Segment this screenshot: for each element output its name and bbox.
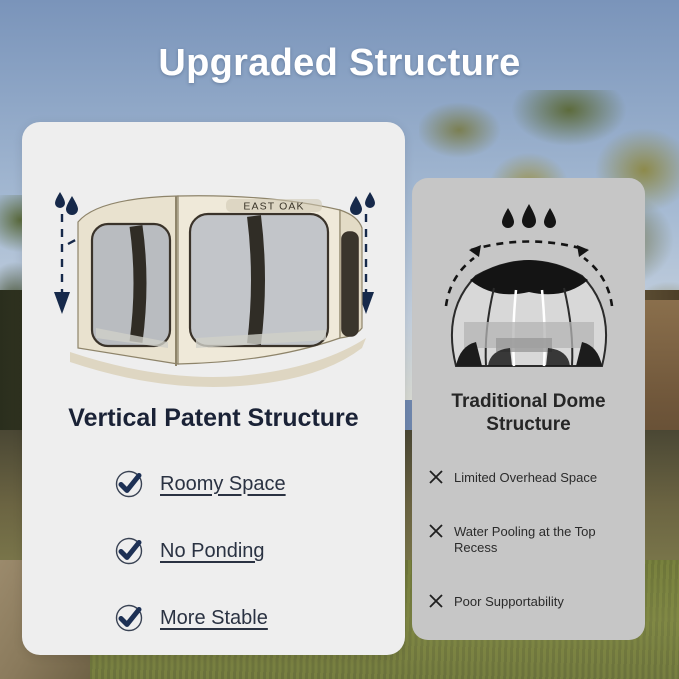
list-item-label: Poor Supportability — [454, 592, 564, 610]
vertical-patent-card: EAST OAK Vertical Patent Structure Roomy… — [22, 122, 405, 655]
brand-label: EAST OAK — [243, 201, 304, 213]
traditional-dome-card: Traditional Dome Structure Limited Overh… — [412, 178, 645, 640]
right-card-list: Limited Overhead Space Water Pooling at … — [427, 468, 637, 646]
list-item-label: More Stable — [160, 607, 268, 630]
list-item-label: Roomy Space — [160, 473, 286, 496]
list-item: Poor Supportability — [427, 592, 637, 610]
x-icon — [427, 468, 445, 486]
left-card-list: Roomy Space No Ponding More Stable — [114, 462, 394, 663]
check-circle-icon — [114, 469, 144, 499]
arrow-head-left-icon — [469, 245, 481, 257]
list-item-label: Limited Overhead Space — [454, 468, 597, 486]
check-circle-icon — [114, 603, 144, 633]
x-icon — [427, 592, 445, 610]
list-item: More Stable — [114, 596, 394, 640]
list-item-label: No Ponding — [160, 540, 265, 563]
right-card-heading: Traditional Dome Structure — [412, 390, 645, 436]
water-droplet-icon — [55, 192, 78, 215]
water-droplet-icon — [350, 192, 375, 215]
traditional-dome-canopy-illustration — [424, 200, 634, 382]
list-item: No Ponding — [114, 529, 394, 573]
list-item-label: Water Pooling at the Top Recess — [454, 522, 637, 556]
x-icon — [427, 522, 445, 540]
water-droplet-icon — [502, 204, 556, 228]
list-item: Water Pooling at the Top Recess — [427, 522, 637, 556]
list-item: Roomy Space — [114, 462, 394, 506]
page-title: Upgraded Structure — [0, 42, 679, 85]
check-circle-icon — [114, 536, 144, 566]
arrow-head-down-left-icon — [54, 292, 70, 314]
vertical-patent-canopy-illustration: EAST OAK — [40, 152, 388, 392]
list-item: Limited Overhead Space — [427, 468, 637, 486]
left-card-heading: Vertical Patent Structure — [22, 404, 405, 433]
arrow-head-right-icon — [577, 245, 589, 257]
